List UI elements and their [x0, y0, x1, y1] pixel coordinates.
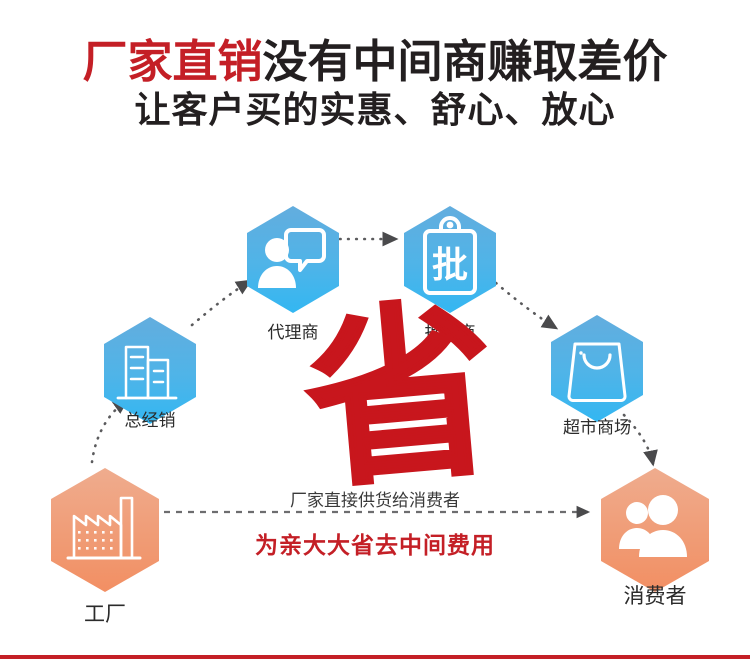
node-factory[interactable] [51, 468, 159, 592]
arrow-factory-to-distributor [92, 400, 127, 462]
promo-banner: 厂家直销没有中间商赚取差价 让客户买的实惠、舒心、放心 [0, 0, 750, 659]
arrow-wholesaler-to-supermarket [496, 283, 556, 328]
node-label-distributor: 总经销 [125, 406, 176, 431]
bottom-accent-rule [0, 655, 750, 659]
node-label-factory: 工厂 [84, 598, 126, 628]
consumer-hexagon[interactable] [601, 468, 709, 592]
node-label-supermarket: 超市商场 [563, 413, 631, 438]
save-emblem: 省 [299, 309, 474, 497]
arrow-distributor-to-agent [192, 281, 250, 325]
node-label-consumer: 消费者 [624, 580, 687, 610]
factory-hexagon[interactable] [51, 468, 159, 592]
caption-save-cost: 为亲大大省去中间费用 [255, 526, 495, 560]
caption-direct-supply: 厂家直接供货给消费者 [290, 486, 460, 511]
node-consumer[interactable] [601, 468, 709, 592]
node-supermarket[interactable] [551, 315, 643, 422]
